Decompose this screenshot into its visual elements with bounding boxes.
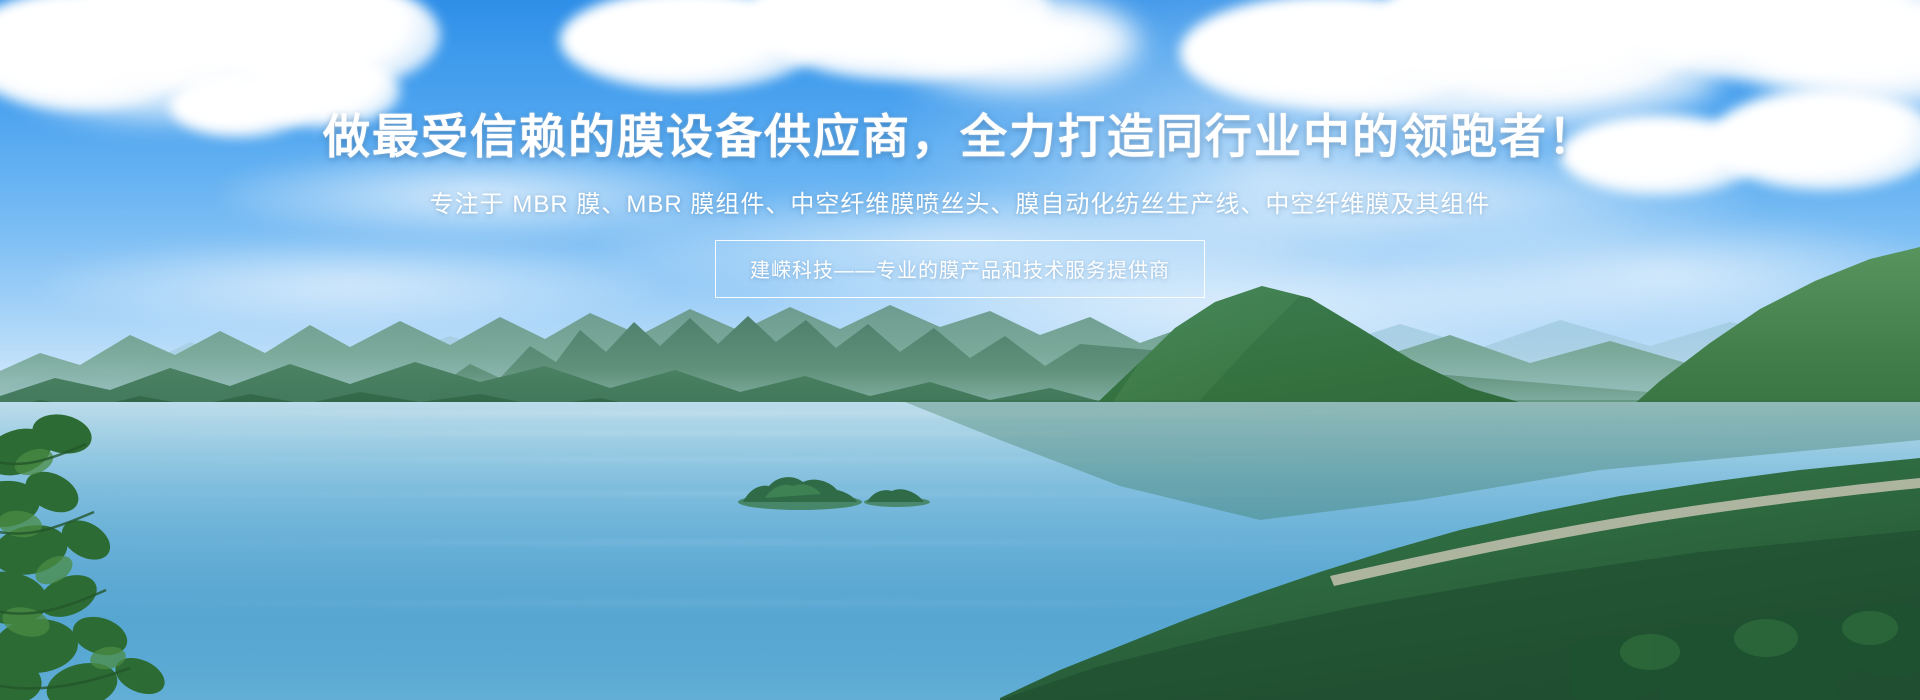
cloud-center-top [560, 0, 1120, 120]
island-small [735, 468, 865, 510]
cloud-left-small [170, 55, 400, 145]
hero-tagline: 建嵘科技——专业的膜产品和技术服务提供商 [750, 254, 1170, 283]
island-secondary [862, 480, 932, 508]
foreground-foliage-left [0, 400, 320, 700]
foreground-foliage-right [1570, 520, 1920, 700]
hero-banner: 做最受信赖的膜设备供应商，全力打造同行业中的领跑者！ 专注于 MBR 膜、MBR… [0, 0, 1920, 700]
hero-tagline-box[interactable]: 建嵘科技——专业的膜产品和技术服务提供商 [715, 240, 1205, 298]
